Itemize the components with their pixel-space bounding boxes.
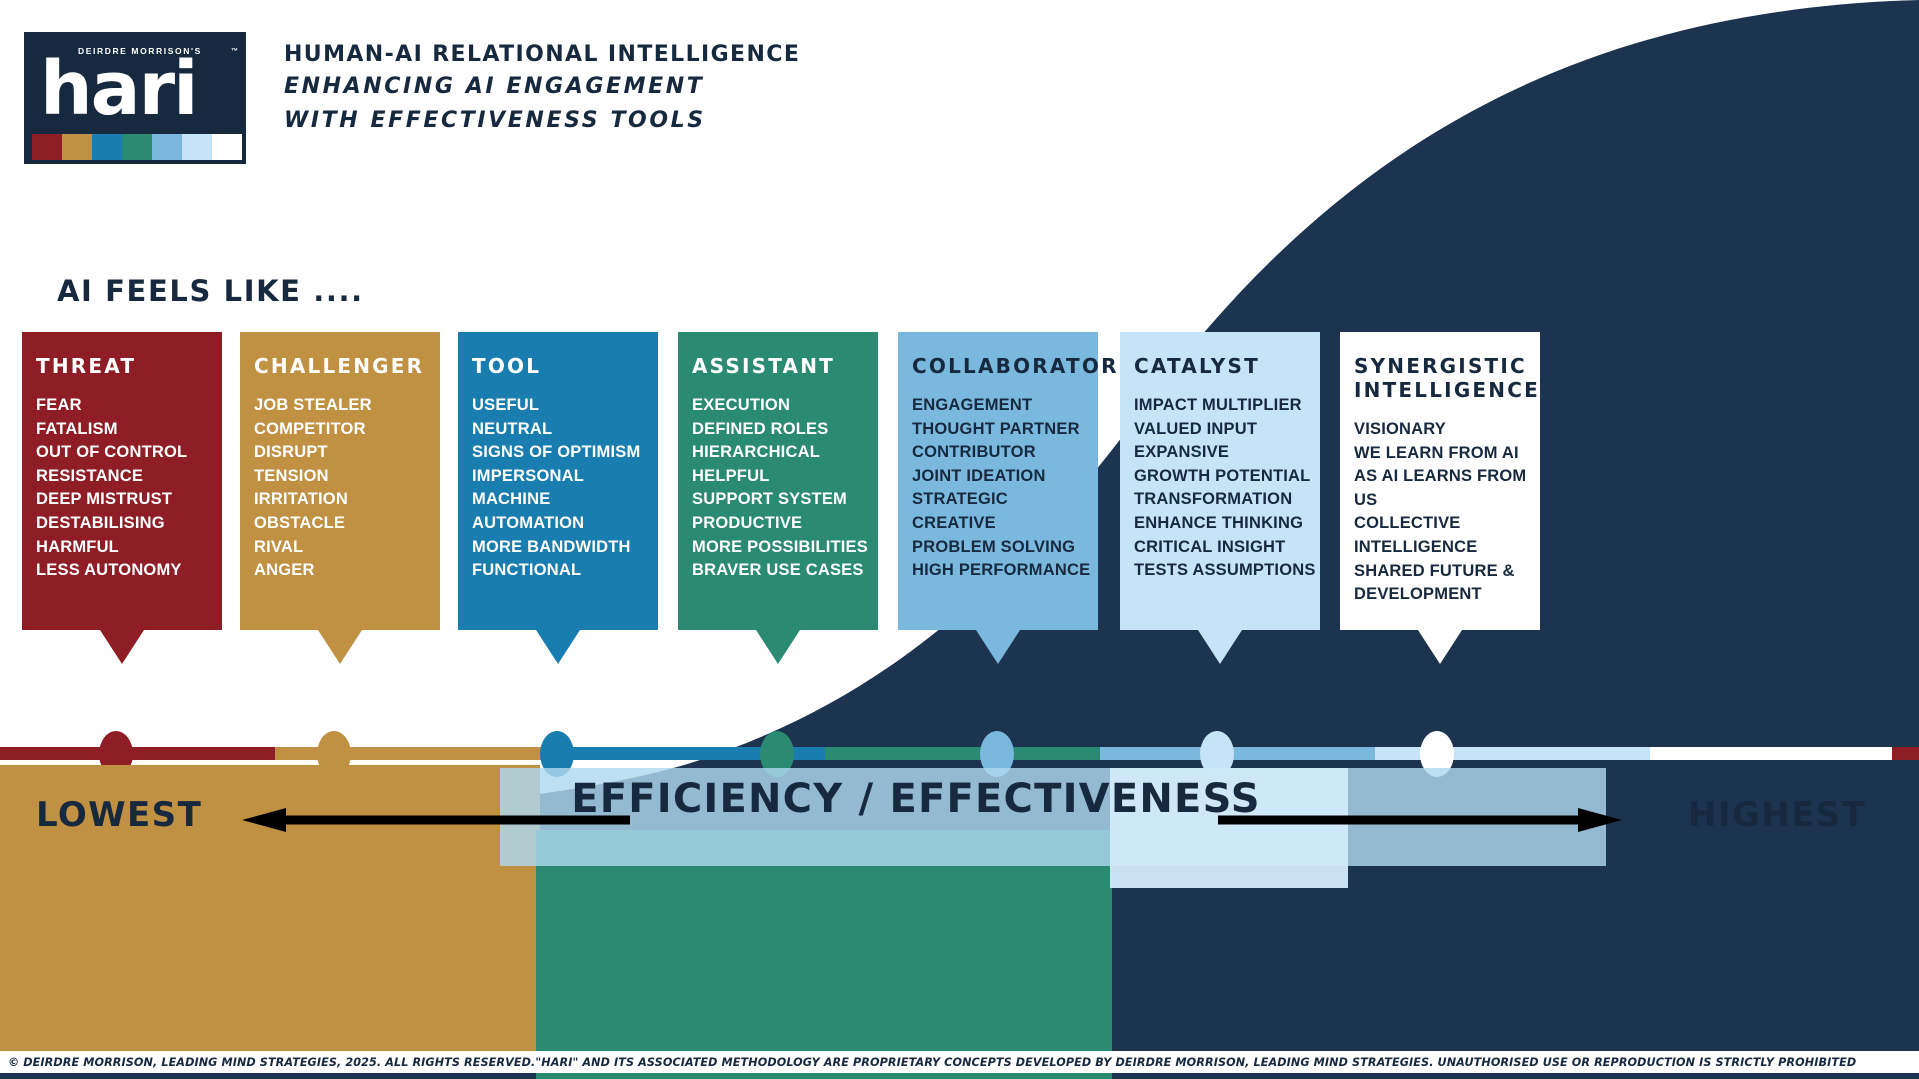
card-item: ANGER: [254, 559, 440, 583]
card-item: CREATIVE: [912, 512, 1098, 536]
card-item: TENSION: [254, 465, 440, 489]
title-block: HUMAN-AI RELATIONAL INTELLIGENCE ENHANCI…: [284, 40, 800, 138]
card-item: IMPACT MULTIPLIER: [1134, 394, 1320, 418]
scale-low-label: LOWEST: [36, 795, 202, 835]
card-item: SUPPORT SYSTEM: [692, 488, 878, 512]
card-item: AUTOMATION: [472, 512, 658, 536]
card-pointer-tail: [536, 630, 580, 664]
infographic-canvas: DEIRDRE MORRISON'S hari ™ HUMAN-AI RELAT…: [0, 0, 1919, 1079]
card-title: TOOL: [472, 354, 658, 378]
card-item: DEEP MISTRUST: [36, 488, 222, 512]
timeline-segment-7: [1892, 747, 1919, 760]
card-item: PRODUCTIVE: [692, 512, 878, 536]
card-item: US: [1354, 489, 1540, 513]
card-item: FATALISM: [36, 418, 222, 442]
card-item: FUNCTIONAL: [472, 559, 658, 583]
card-item: HIGH PERFORMANCE: [912, 559, 1098, 583]
card-assistant[interactable]: ASSISTANTEXECUTIONDEFINED ROLESHIERARCHI…: [678, 332, 878, 630]
logo-swatch-3: [122, 134, 152, 160]
card-item: COLLECTIVE: [1354, 512, 1540, 536]
card-title: THREAT: [36, 354, 222, 378]
card-item: TESTS ASSUMPTIONS: [1134, 559, 1320, 583]
card-item: AS AI LEARNS FROM: [1354, 465, 1540, 489]
card-item: OUT OF CONTROL: [36, 441, 222, 465]
card-item: DISRUPT: [254, 441, 440, 465]
page-title: HUMAN-AI RELATIONAL INTELLIGENCE: [284, 40, 800, 70]
card-item: SIGNS OF OPTIMISM: [472, 441, 658, 465]
logo-color-swatches: [32, 134, 242, 160]
card-item-list: FEARFATALISMOUT OF CONTROLRESISTANCEDEEP…: [36, 394, 222, 583]
card-item: DESTABILISING: [36, 512, 222, 536]
card-item: IRRITATION: [254, 488, 440, 512]
card-item: RESISTANCE: [36, 465, 222, 489]
card-item: ENHANCE THINKING: [1134, 512, 1320, 536]
logo-swatch-2: [92, 134, 122, 160]
card-item-list: USEFULNEUTRALSIGNS OF OPTIMISMIMPERSONAL…: [472, 394, 658, 583]
timeline-segment-6: [1650, 747, 1892, 760]
card-item: MORE POSSIBILITIES: [692, 536, 878, 560]
scale-axis-label: EFFICIENCY / EFFECTIVENESS: [516, 776, 1316, 822]
page-subtitle-2: WITH EFFECTIVENESS TOOLS: [284, 104, 800, 138]
card-title: CATALYST: [1134, 354, 1320, 378]
arrow-left-icon: [242, 808, 630, 832]
card-item-list: EXECUTIONDEFINED ROLESHIERARCHICALHELPFU…: [692, 394, 878, 583]
logo-swatch-0: [32, 134, 62, 160]
section-heading: AI FEELS LIKE ....: [57, 274, 364, 308]
card-pointer-tail: [1418, 630, 1462, 664]
card-item: GROWTH POTENTIAL: [1134, 465, 1320, 489]
card-item-list: ENGAGEMENTTHOUGHT PARTNERCONTRIBUTORJOIN…: [912, 394, 1098, 583]
card-item: JOB STEALER: [254, 394, 440, 418]
card-item: COMPETITOR: [254, 418, 440, 442]
card-challenger[interactable]: CHALLENGERJOB STEALERCOMPETITORDISRUPTTE…: [240, 332, 440, 630]
card-item: WE LEARN FROM AI: [1354, 442, 1540, 466]
card-item: PROBLEM SOLVING: [912, 536, 1098, 560]
hari-logo: DEIRDRE MORRISON'S hari ™: [24, 32, 246, 164]
card-item: HIERARCHICAL: [692, 441, 878, 465]
card-item: IMPERSONAL: [472, 465, 658, 489]
card-item: NEUTRAL: [472, 418, 658, 442]
card-item-list: VISIONARYWE LEARN FROM AIAS AI LEARNS FR…: [1354, 418, 1540, 607]
card-item: VALUED INPUT: [1134, 418, 1320, 442]
card-item: CONTRIBUTOR: [912, 441, 1098, 465]
card-item: RIVAL: [254, 536, 440, 560]
timeline-segment-0: [0, 747, 275, 760]
card-threat[interactable]: THREATFEARFATALISMOUT OF CONTROLRESISTAN…: [22, 332, 222, 630]
card-item: VISIONARY: [1354, 418, 1540, 442]
timeline-segment-5: [1375, 747, 1650, 760]
card-pointer-tail: [756, 630, 800, 664]
card-synergistic-intelligence[interactable]: SYNERGISTIC INTELLIGENCEVISIONARYWE LEAR…: [1340, 332, 1540, 630]
card-item: DEVELOPMENT: [1354, 583, 1540, 607]
logo-swatch-1: [62, 134, 92, 160]
card-item: USEFUL: [472, 394, 658, 418]
card-item: JOINT IDEATION: [912, 465, 1098, 489]
logo-inner: DEIRDRE MORRISON'S hari ™: [32, 40, 242, 160]
card-item: BRAVER USE CASES: [692, 559, 878, 583]
card-item: HARMFUL: [36, 536, 222, 560]
card-title: COLLABORATOR: [912, 354, 1098, 378]
logo-wordmark: hari: [40, 52, 196, 126]
card-title: CHALLENGER: [254, 354, 440, 378]
logo-swatch-6: [212, 134, 242, 160]
card-collaborator[interactable]: COLLABORATORENGAGEMENTTHOUGHT PARTNERCON…: [898, 332, 1098, 630]
card-item: SHARED FUTURE &: [1354, 560, 1540, 584]
card-title: SYNERGISTIC INTELLIGENCE: [1354, 354, 1540, 402]
card-item: EXPANSIVE: [1134, 441, 1320, 465]
card-item: ENGAGEMENT: [912, 394, 1098, 418]
card-item-list: JOB STEALERCOMPETITORDISRUPTTENSIONIRRIT…: [254, 394, 440, 583]
card-item: LESS AUTONOMY: [36, 559, 222, 583]
timeline-segment-4: [1100, 747, 1375, 760]
card-item: HELPFUL: [692, 465, 878, 489]
arrow-right-icon: [1218, 808, 1622, 832]
card-item: CRITICAL INSIGHT: [1134, 536, 1320, 560]
card-item: INTELLIGENCE: [1354, 536, 1540, 560]
card-item: STRATEGIC: [912, 488, 1098, 512]
card-pointer-tail: [318, 630, 362, 664]
card-item: THOUGHT PARTNER: [912, 418, 1098, 442]
card-catalyst[interactable]: CATALYSTIMPACT MULTIPLIERVALUED INPUTEXP…: [1120, 332, 1320, 630]
card-pointer-tail: [976, 630, 1020, 664]
card-item: EXECUTION: [692, 394, 878, 418]
logo-swatch-5: [182, 134, 212, 160]
card-tool[interactable]: TOOLUSEFULNEUTRALSIGNS OF OPTIMISMIMPERS…: [458, 332, 658, 630]
card-item: OBSTACLE: [254, 512, 440, 536]
trademark-symbol: ™: [231, 48, 238, 55]
card-item: DEFINED ROLES: [692, 418, 878, 442]
scale-high-label: HIGHEST: [1688, 795, 1866, 835]
page-subtitle-1: ENHANCING AI ENGAGEMENT: [284, 70, 800, 104]
scale-band-green: [536, 830, 1112, 1079]
logo-swatch-4: [152, 134, 182, 160]
card-item: FEAR: [36, 394, 222, 418]
card-item: MORE BANDWIDTH: [472, 536, 658, 560]
card-pointer-tail: [1198, 630, 1242, 664]
card-item-list: IMPACT MULTIPLIERVALUED INPUTEXPANSIVEGR…: [1134, 394, 1320, 583]
card-title: ASSISTANT: [692, 354, 878, 378]
card-item: MACHINE: [472, 488, 658, 512]
card-item: TRANSFORMATION: [1134, 488, 1320, 512]
timeline-segment-3: [825, 747, 1100, 760]
card-pointer-tail: [100, 630, 144, 664]
copyright-notice: © DEIRDRE MORRISON, LEADING MIND STRATEG…: [0, 1051, 1919, 1073]
